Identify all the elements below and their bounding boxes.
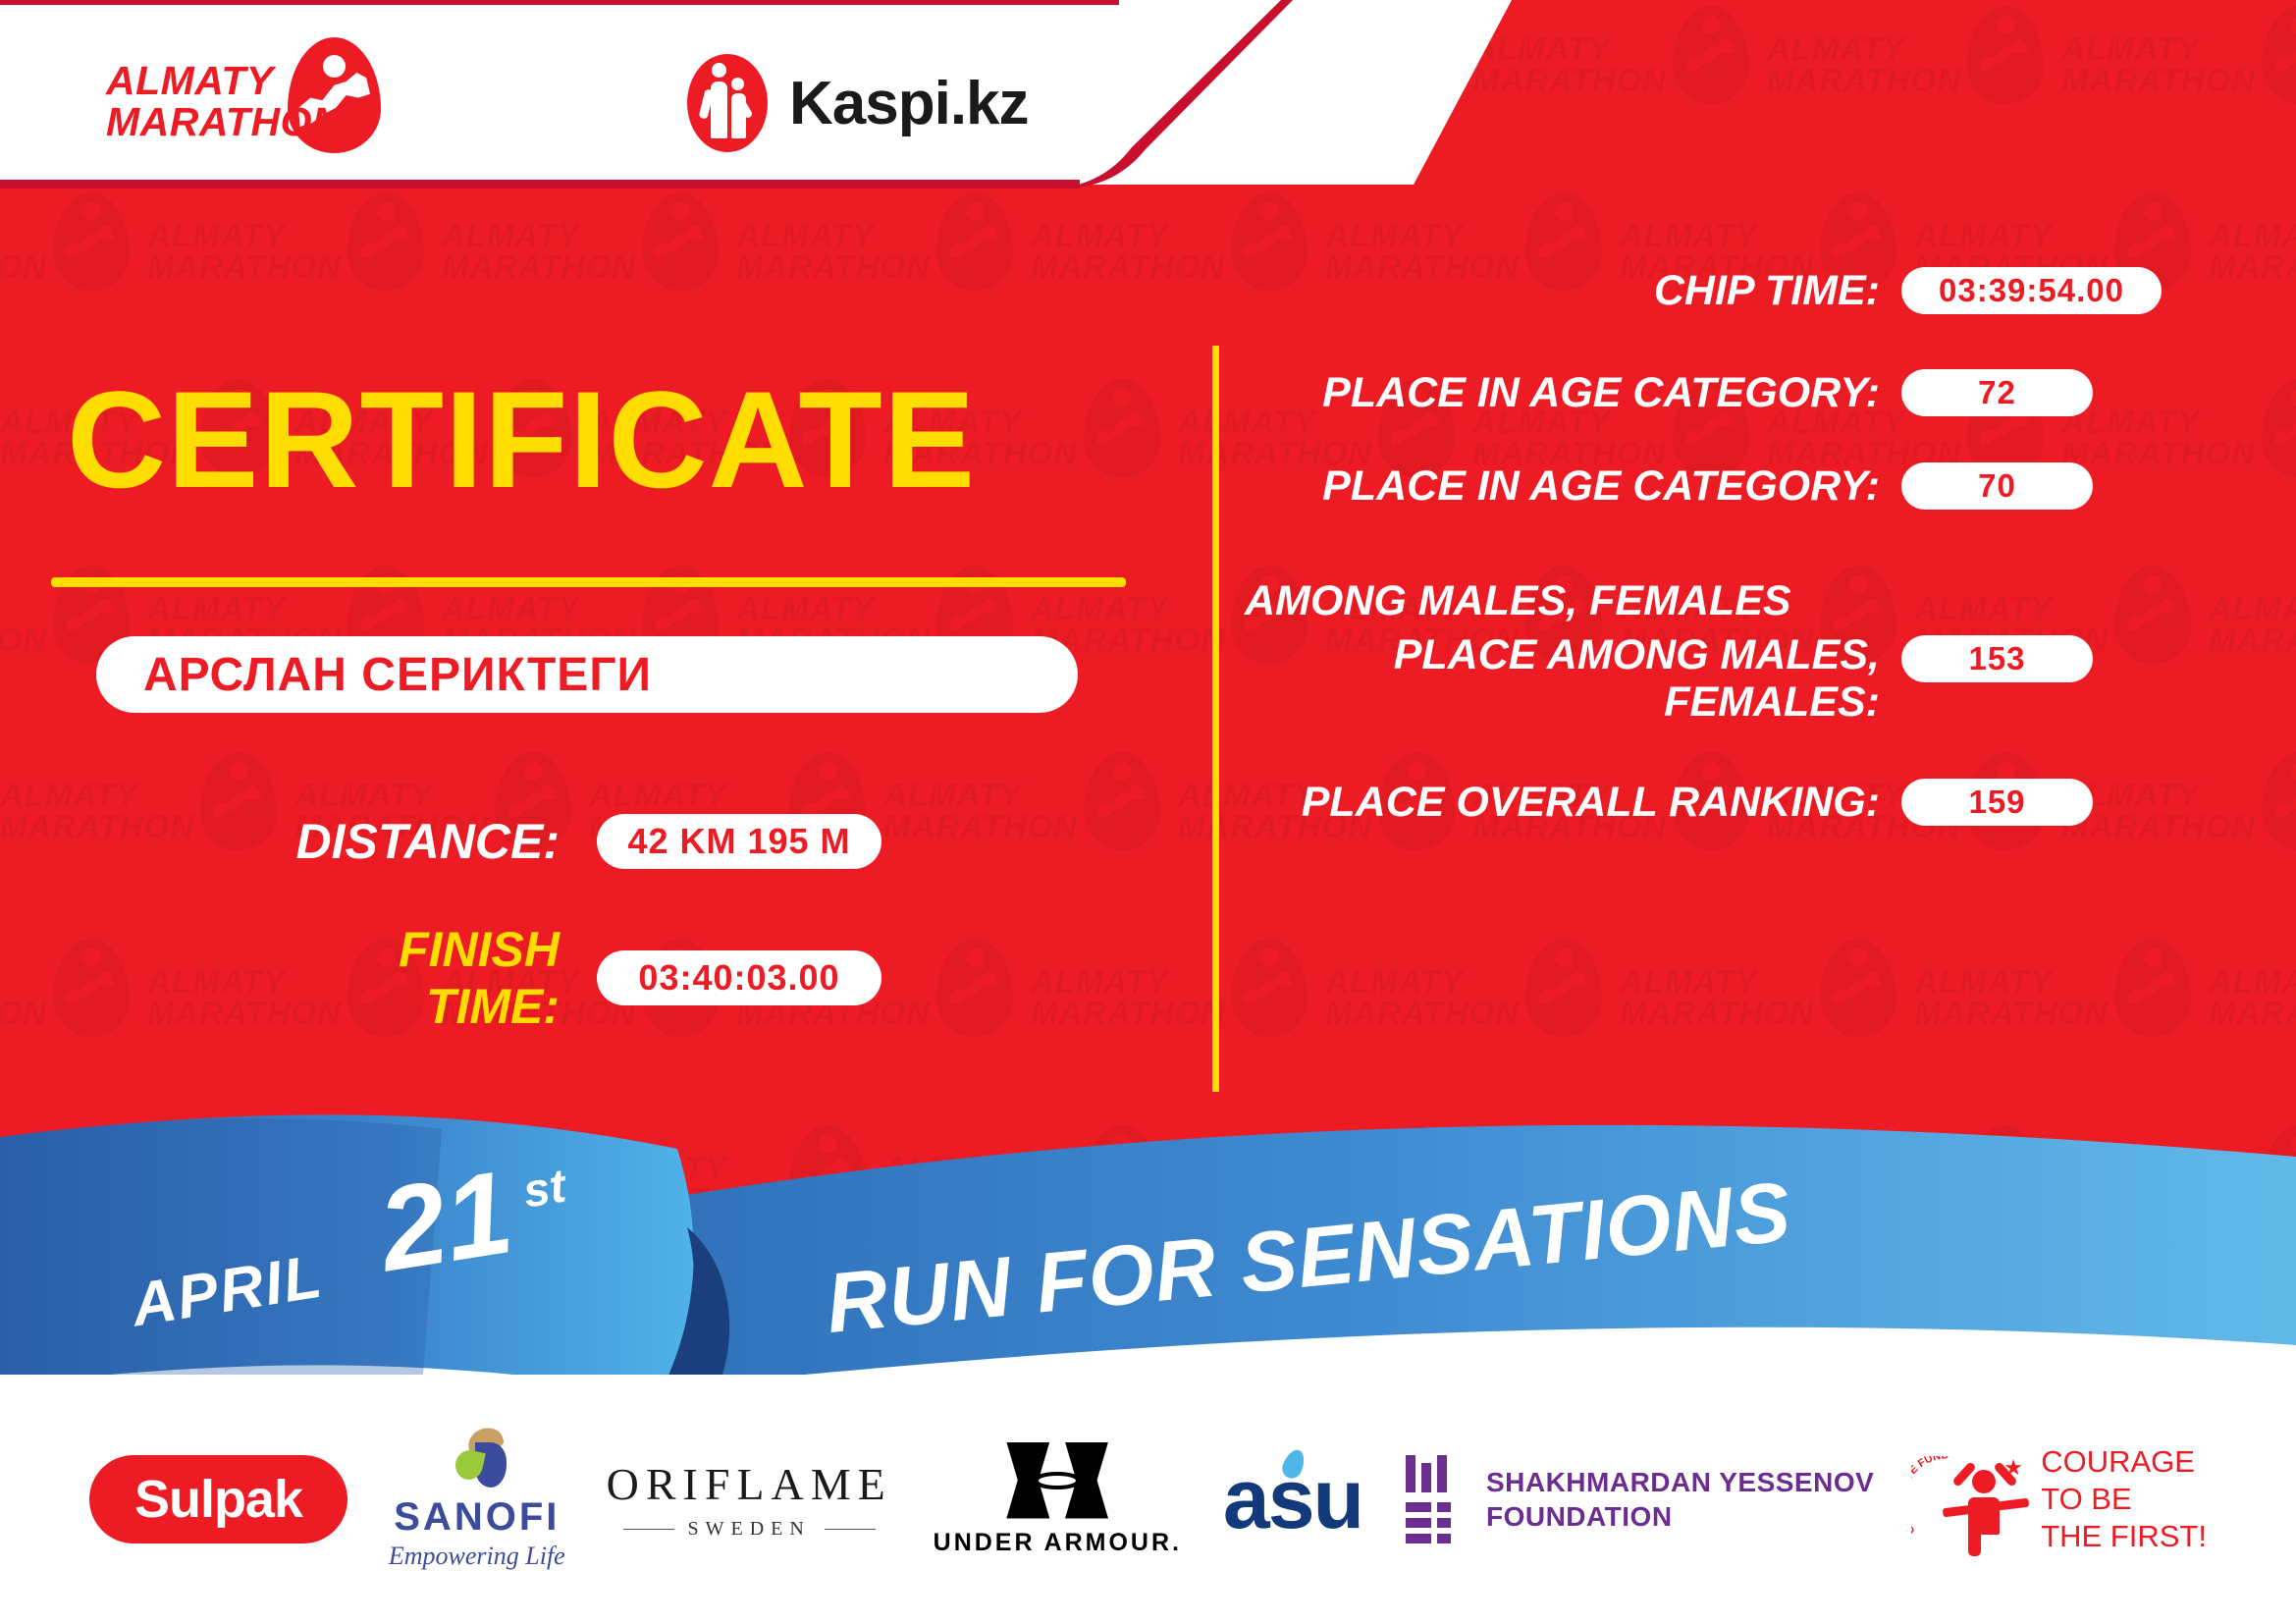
place-overall-ranking-value: 159 bbox=[1901, 779, 2093, 826]
yessenov-line-1: SHAKHMARDAN YESSENOV bbox=[1486, 1465, 1874, 1499]
place-in-age-category-row: PLACE IN AGE CATEGORY: 72 bbox=[1227, 369, 2093, 416]
sanofi-leaf-icon bbox=[446, 1429, 508, 1489]
oriflame-country: SWEDEN bbox=[688, 1518, 811, 1541]
among-males-females-subline-row: AMONG MALES, FEMALES bbox=[1227, 577, 1880, 624]
almaty-marathon-logo[interactable]: ALMATY MARATHON bbox=[106, 47, 430, 155]
oriflame-wordmark: ORIFLAME bbox=[607, 1458, 892, 1510]
oriflame-rule-right bbox=[825, 1529, 876, 1530]
kaspi-people-icon bbox=[687, 54, 768, 152]
courage-line-1: COURAGE bbox=[2041, 1443, 2207, 1481]
certificate-results-column: CHIP TIME: 03:39:54.00 PLACE IN AGE CATE… bbox=[1227, 185, 2296, 1166]
sulpak-wordmark: Sulpak bbox=[89, 1455, 347, 1543]
courage-line-2: TO BE bbox=[2041, 1481, 2207, 1518]
yessenov-bars-icon bbox=[1404, 1455, 1465, 1543]
page-title: CERTIFICATE bbox=[67, 371, 976, 509]
sponsor-yessenov-foundation[interactable]: SHAKHMARDAN YESSENOV FOUNDATION bbox=[1404, 1455, 1874, 1543]
chip-time-label: CHIP TIME: bbox=[1227, 267, 1880, 314]
sponsor-bar: Sulpak SANOFI Empowering Life ORIFLAME S… bbox=[0, 1375, 2296, 1624]
place-overall-ranking-label: PLACE OVERALL RANKING: bbox=[1227, 779, 1880, 826]
distance-value: 42 KM 195 M bbox=[597, 814, 881, 869]
vertical-divider bbox=[1212, 346, 1219, 1092]
among-males-females-subline: AMONG MALES, FEMALES bbox=[1227, 577, 1880, 624]
place-in-age-category-value: 72 bbox=[1901, 369, 2093, 416]
distance-row: DISTANCE: 42 KM 195 M bbox=[265, 813, 881, 870]
under-armour-wordmark: UNDER ARMOUR. bbox=[934, 1529, 1182, 1557]
certificate-page: ALMATYMARATHONALMATYMARATHONALMATYMARATH… bbox=[0, 0, 2296, 1624]
certificate-left-column: CERTIFICATE АРСЛАН СЕРИКТЕГИ DISTANCE: 4… bbox=[0, 185, 1207, 1166]
courage-child-icon: ★ bbox=[1949, 1454, 2023, 1548]
finish-time-value: 03:40:03.00 bbox=[597, 950, 881, 1005]
courage-wordmark: COURAGE TO BE THE FIRST! bbox=[2041, 1443, 2207, 1554]
sponsor-courage-to-be-the-first[interactable]: CORPORATE FUND ★ COURAGE TO BE THE FIRST… bbox=[1915, 1443, 2207, 1554]
distance-label: DISTANCE: bbox=[265, 813, 560, 870]
watermark-tile: ALMATYMARATHON bbox=[2061, 0, 2296, 187]
watermark-tile: ALMATYMARATHON bbox=[1472, 0, 1767, 187]
sponsor-under-armour[interactable]: UNDER ARMOUR. bbox=[934, 1442, 1182, 1557]
place-in-age-category-among-row: PLACE IN AGE CATEGORY: 70 bbox=[1227, 462, 2093, 510]
finish-time-label: FINISH TIME: bbox=[265, 921, 560, 1035]
event-day: 21 bbox=[372, 1153, 520, 1289]
oriflame-rule-left bbox=[623, 1529, 674, 1530]
kaspi-logo[interactable]: Kaspi.kz bbox=[687, 54, 1029, 152]
yessenov-wordmark: SHAKHMARDAN YESSENOV FOUNDATION bbox=[1486, 1465, 1874, 1534]
sponsor-sulpak[interactable]: Sulpak bbox=[89, 1455, 347, 1543]
sanofi-tagline: Empowering Life bbox=[389, 1542, 565, 1571]
title-underline-divider bbox=[51, 577, 1126, 587]
yessenov-line-2: FOUNDATION bbox=[1486, 1499, 1874, 1534]
place-overall-ranking-row: PLACE OVERALL RANKING: 159 bbox=[1227, 779, 2093, 826]
place-among-males-females-value: 153 bbox=[1901, 635, 2093, 682]
kaspi-wordmark: Kaspi.kz bbox=[789, 69, 1029, 138]
chip-time-value: 03:39:54.00 bbox=[1901, 267, 2162, 314]
courage-figure-icon: CORPORATE FUND ★ bbox=[1915, 1446, 2025, 1552]
place-among-males-females-row: PLACE AMONG MALES, FEMALES: 153 bbox=[1227, 631, 2093, 726]
almaty-marathon-wordmark: ALMATY MARATHON bbox=[106, 61, 302, 143]
place-in-age-category-among-label: PLACE IN AGE CATEGORY: bbox=[1227, 462, 1880, 510]
finish-time-row: FINISH TIME: 03:40:03.00 bbox=[265, 921, 881, 1035]
place-in-age-category-among-value: 70 bbox=[1901, 462, 2093, 510]
place-among-males-females-label: PLACE AMONG MALES, FEMALES: bbox=[1227, 631, 1880, 726]
courage-line-3: THE FIRST! bbox=[2041, 1518, 2207, 1555]
watermark-text: ALMATYMARATHON bbox=[2061, 33, 2287, 97]
svg-text:CORPORATE FUND: CORPORATE FUND bbox=[1911, 1456, 1949, 1537]
logo-line-2: MARATHON bbox=[106, 102, 302, 143]
runner-head-icon bbox=[323, 55, 346, 78]
sanofi-wordmark: SANOFI bbox=[394, 1495, 560, 1540]
sponsor-asu[interactable]: asu bbox=[1223, 1451, 1362, 1548]
athlete-name-value: АРСЛАН СЕРИКТЕГИ bbox=[143, 648, 652, 702]
asu-wordmark: asu bbox=[1223, 1451, 1362, 1548]
watermark-text: ALMATYMARATHON bbox=[1472, 33, 1698, 97]
place-in-age-category-label: PLACE IN AGE CATEGORY: bbox=[1227, 369, 1880, 416]
oriflame-sub: SWEDEN bbox=[623, 1518, 876, 1541]
header-bottom-rule bbox=[0, 180, 1080, 189]
watermark-tile: ALMATYMARATHON bbox=[1767, 0, 2061, 187]
sponsor-oriflame[interactable]: ORIFLAME SWEDEN bbox=[607, 1458, 892, 1541]
sponsor-sanofi[interactable]: SANOFI Empowering Life bbox=[389, 1429, 565, 1571]
under-armour-icon bbox=[1006, 1442, 1108, 1519]
watermark-text: ALMATYMARATHON bbox=[1767, 33, 1993, 97]
logo-line-1: ALMATY bbox=[106, 61, 302, 102]
header-top-rule bbox=[0, 0, 1119, 5]
chip-time-row: CHIP TIME: 03:39:54.00 bbox=[1227, 267, 2162, 314]
event-day-ordinal: st bbox=[519, 1160, 569, 1219]
athlete-name-field: АРСЛАН СЕРИКТЕГИ bbox=[96, 636, 1078, 713]
